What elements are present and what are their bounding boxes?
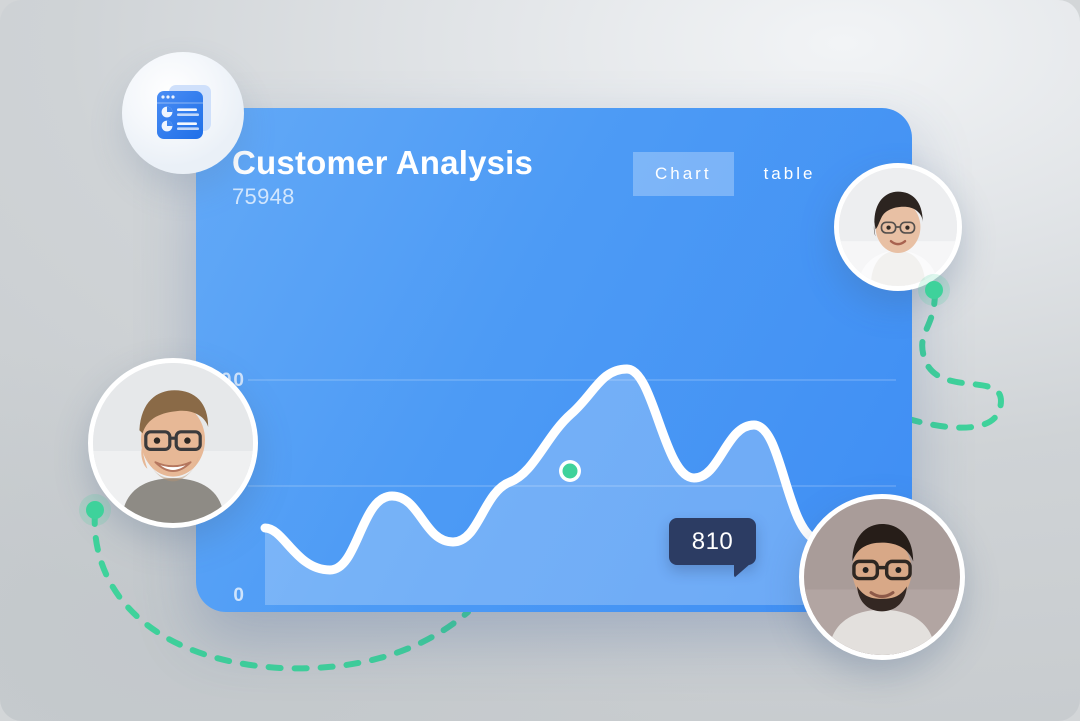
tab-table[interactable]: table — [758, 152, 822, 196]
avatar-woman-glasses[interactable] — [834, 163, 962, 291]
data-tooltip: 810 — [669, 518, 756, 565]
page-title: Customer Analysis — [232, 144, 533, 182]
analysis-card: Customer Analysis 75948 Chart table 100 … — [196, 108, 912, 612]
report-icon-badge[interactable] — [122, 52, 244, 174]
avatar-man-beard-glasses[interactable] — [799, 494, 965, 660]
avatar-man-glasses-smiling[interactable] — [88, 358, 258, 528]
report-document-icon — [147, 77, 219, 149]
tooltip-value: 810 — [692, 528, 734, 556]
green-status-dot-left — [86, 501, 104, 519]
card-header: Customer Analysis 75948 Chart table — [196, 108, 912, 228]
data-point-marker[interactable] — [563, 464, 578, 479]
tab-chart[interactable]: Chart — [633, 152, 734, 196]
chart-area-fill — [265, 369, 872, 605]
avatar-image — [804, 499, 960, 655]
avatar-image — [93, 363, 253, 523]
avatar-image — [839, 168, 957, 286]
green-status-dot-right — [925, 281, 943, 299]
page-subtitle-count: 75948 — [232, 184, 295, 210]
screenshot-root: Customer Analysis 75948 Chart table 100 … — [0, 0, 1080, 721]
view-tabs: Chart table — [633, 152, 821, 196]
